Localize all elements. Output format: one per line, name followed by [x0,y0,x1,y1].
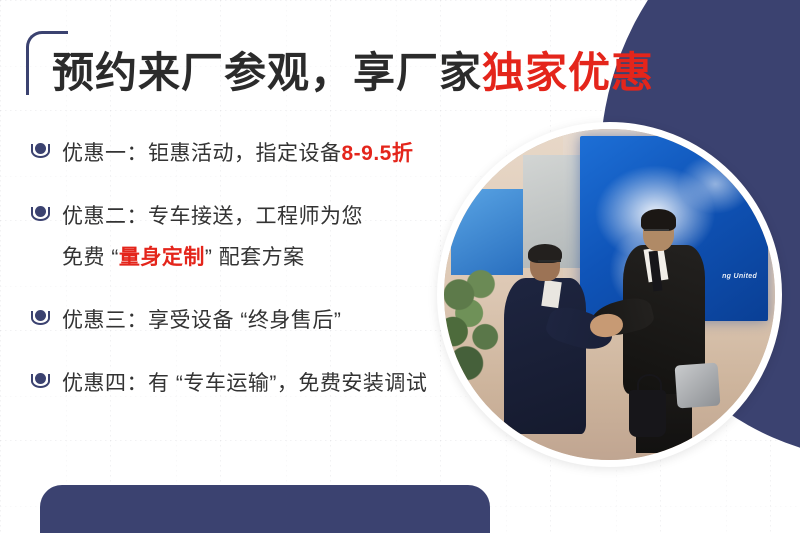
list-item: 优惠一：钜惠活动，指定设备8-9.5折 [30,134,500,175]
photo-black-handbag [629,390,665,436]
list-item-line: 优惠三：享受设备 “终身售后” [62,301,341,342]
bullet-dot-icon [30,140,54,164]
list-item-label: 优惠四：有 “专车运输”，免费安装调试 [62,364,427,405]
plain-text: 优惠三：享受设备 “终身售后” [62,309,341,332]
page-title-plain: 预约来厂参观，享厂家 [52,49,482,96]
highlight-text: 量身定制 [119,246,205,269]
list-item-label: 优惠一：钜惠活动，指定设备8-9.5折 [62,134,413,175]
list-item-line: 优惠一：钜惠活动，指定设备8-9.5折 [62,134,413,175]
bullet-dot-icon [30,370,54,394]
plain-text: 优惠二：专车接送，工程师为您 [62,205,363,228]
plain-text: 免费 “ [62,246,119,269]
photo-screen-caption-right: ng United [722,273,757,280]
list-item-label: 优惠三：享受设备 “终身售后” [62,301,341,342]
list-item: 优惠四：有 “专车运输”，免费安装调试 [30,364,500,405]
benefits-list: 优惠一：钜惠活动，指定设备8-9.5折优惠二：专车接送，工程师为您免费 “量身定… [30,134,500,427]
bullet-arc [31,144,50,158]
bullet-arc [31,374,50,388]
bullet-arc [31,207,50,221]
promo-poster: ng United ng United 预约来厂参观，享厂家独家优惠 优 [0,0,800,533]
photo-left-man-glasses [538,260,561,262]
bullet-dot-icon [30,307,54,331]
photo-right-man-hair [641,209,677,231]
highlight-text: 8-9.5折 [342,142,414,165]
plain-text: 优惠四：有 “专车运输”，免费安装调试 [62,372,427,395]
plain-text: ” 配套方案 [205,246,305,269]
list-item: 优惠二：专车接送，工程师为您免费 “量身定制” 配套方案 [30,197,500,279]
page-title: 预约来厂参观，享厂家独家优惠 [52,48,654,98]
page-title-highlight: 独家优惠 [482,49,654,96]
list-item-line: 优惠四：有 “专车运输”，免费安装调试 [62,364,427,405]
bullet-arc [31,311,50,325]
photo-right-man-glasses [644,229,669,231]
list-item: 优惠三：享受设备 “终身售后” [30,301,500,342]
list-item-line: 优惠二：专车接送，工程师为您 [62,197,363,238]
bullet-dot-icon [30,203,54,227]
plain-text: 优惠一：钜惠活动，指定设备 [62,142,342,165]
photo-silver-bag [674,363,720,409]
list-item-label: 优惠二：专车接送，工程师为您免费 “量身定制” 配套方案 [62,197,363,279]
bottom-navy-bar [40,485,490,533]
list-item-line: 免费 “量身定制” 配套方案 [62,238,363,279]
